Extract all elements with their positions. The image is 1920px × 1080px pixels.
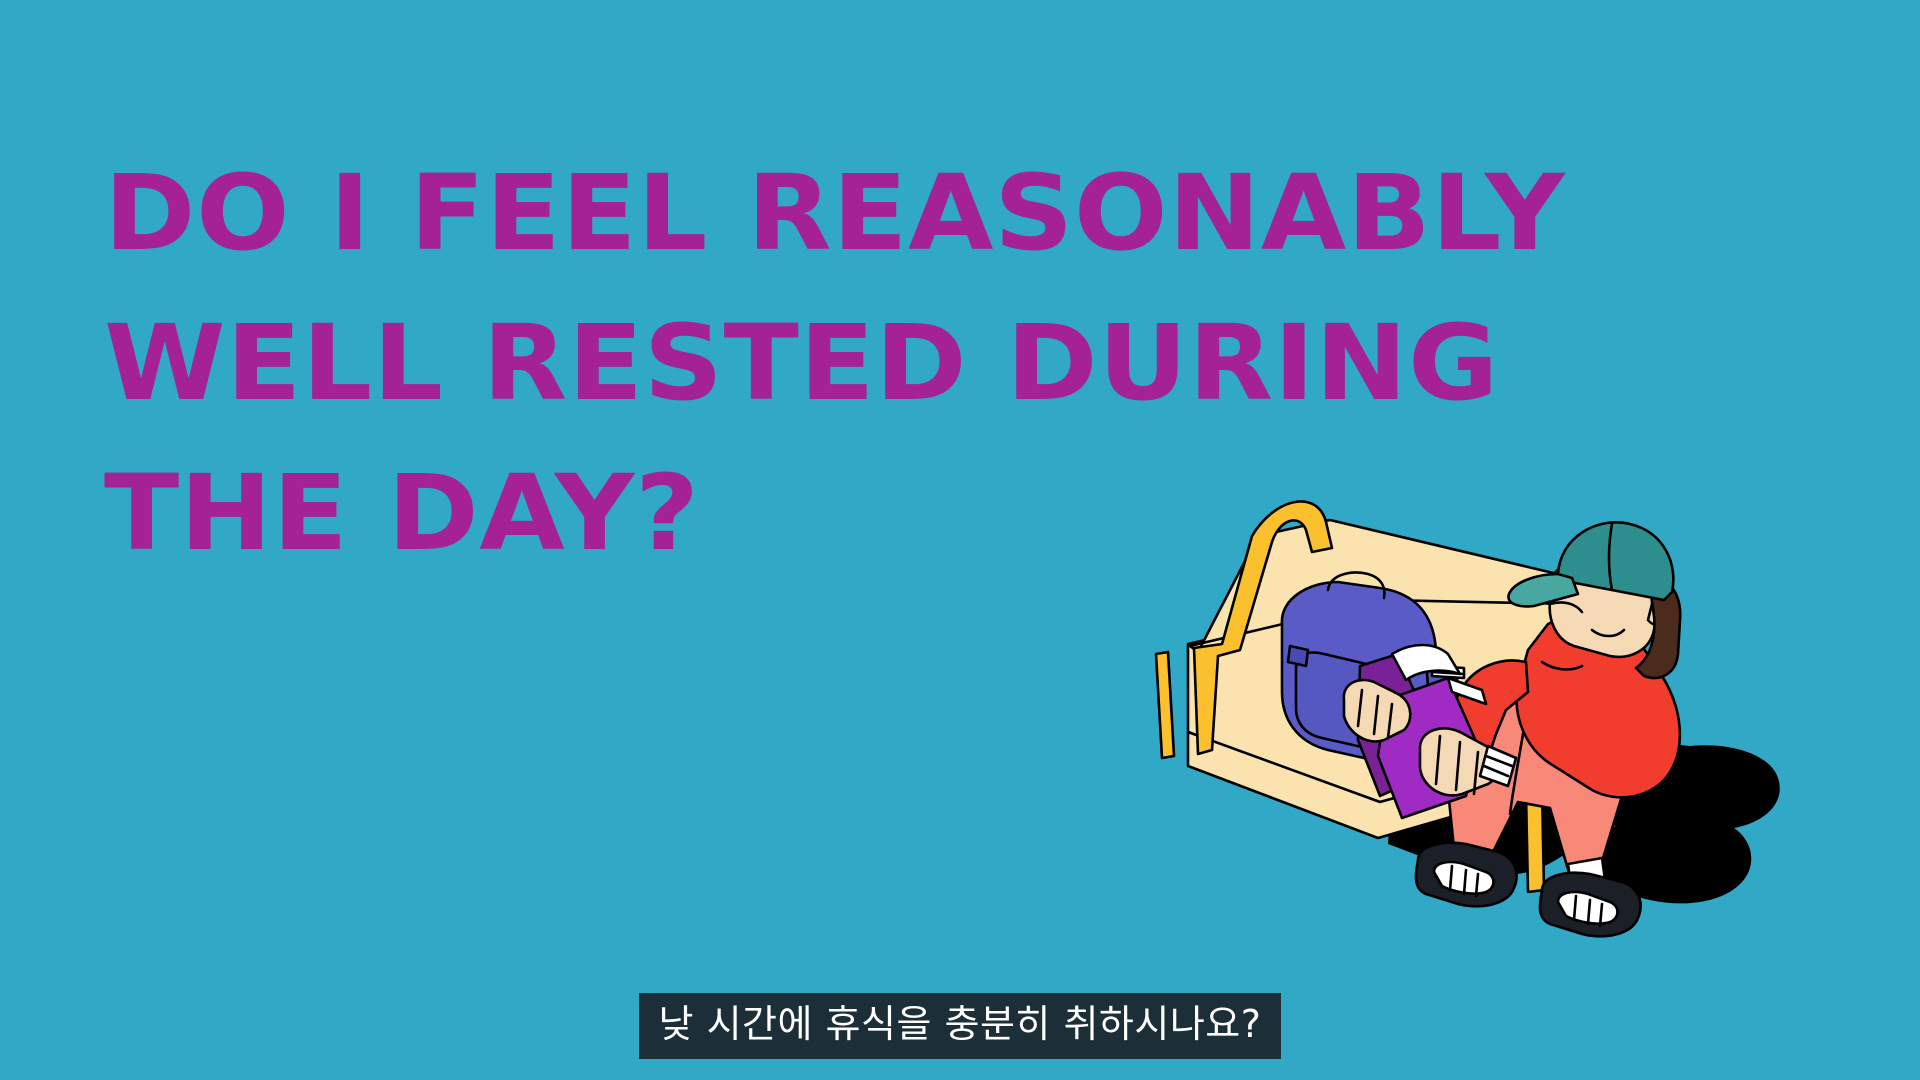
bench-back-leg <box>1156 652 1174 758</box>
subtitle-text: 낮 시간에 휴식을 충분히 취하시나요? <box>639 993 1282 1059</box>
headline-line-1: DO I FEEL REASONABLY <box>104 138 1842 288</box>
slide-canvas: DO I FEEL REASONABLY WELL RESTED DURING … <box>0 0 1920 1080</box>
subtitle-container: 낮 시간에 휴식을 충분히 취하시나요? <box>0 993 1920 1059</box>
illustration-svg <box>1130 478 1820 948</box>
illustration-person-reading-on-bench <box>1130 478 1820 948</box>
headline-line-2: WELL RESTED DURING <box>104 288 1842 438</box>
backpack-strap-left <box>1288 646 1308 666</box>
